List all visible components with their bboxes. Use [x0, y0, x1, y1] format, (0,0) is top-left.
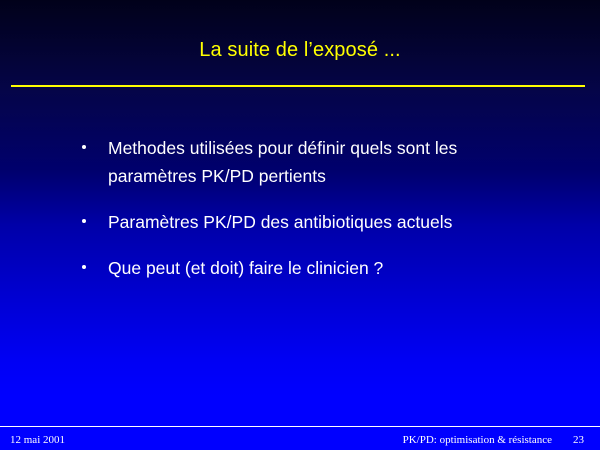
- list-item: Methodes utilisées pour définir quels so…: [78, 134, 508, 190]
- list-item: Que peut (et doit) faire le clinicien ?: [78, 254, 508, 282]
- bullet-dot-icon: [82, 145, 86, 149]
- list-item-label: Paramètres PK/PD des antibiotiques actue…: [108, 208, 508, 236]
- bullet-dot-icon: [82, 265, 86, 269]
- footer-date: 12 mai 2001: [10, 432, 65, 448]
- presentation-slide: La suite de l’exposé ... Methodes utilis…: [0, 0, 600, 450]
- slide-footer: 12 mai 2001 PK/PD: optimisation & résist…: [0, 430, 600, 450]
- title-divider: [11, 85, 585, 87]
- bullet-list: Methodes utilisées pour définir quels so…: [78, 134, 508, 282]
- list-item-label: Que peut (et doit) faire le clinicien ?: [108, 254, 508, 282]
- footer-divider: [0, 426, 600, 427]
- page-title: La suite de l’exposé ...: [199, 38, 400, 62]
- slide-title-block: La suite de l’exposé ...: [0, 38, 600, 62]
- footer-subject: PK/PD: optimisation & résistance: [403, 432, 552, 448]
- list-item-label: Methodes utilisées pour définir quels so…: [108, 134, 508, 190]
- footer-page-number: 23: [573, 432, 584, 448]
- list-item: Paramètres PK/PD des antibiotiques actue…: [78, 208, 508, 236]
- bullet-dot-icon: [82, 219, 86, 223]
